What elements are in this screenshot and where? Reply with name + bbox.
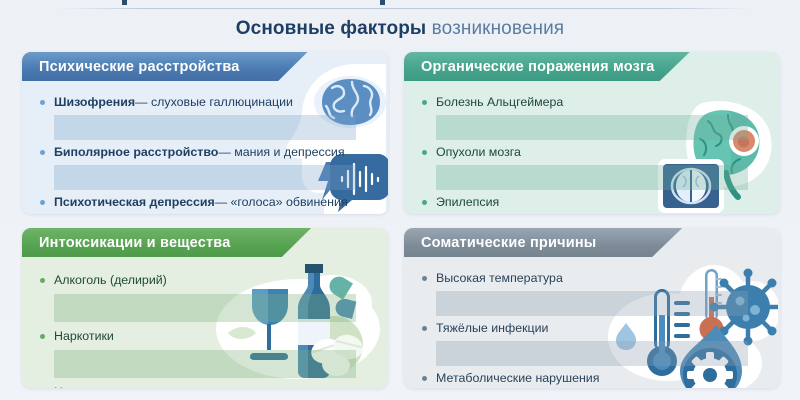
item-divider [436,115,748,140]
item-label-strong: Психотическая депрессия [54,195,215,210]
panel-item-list: Алкоголь (делирий) Наркотики Некоторые л… [39,266,374,388]
page-title-light: возникновения [426,18,564,39]
panel-item-list: Болезнь Альцгеймера Опухоли мозга Эпилеп… [421,90,766,214]
list-item[interactable]: Высокая температура [421,266,766,291]
panel-title: Органические поражения мозга [421,59,655,75]
item-label-rest: Эпилепсия [436,195,499,210]
panel-body-intoxications-substances: Алкоголь (делирий) Наркотики Некоторые л… [22,257,388,388]
item-label-rest: — «голоса» обвинения [215,195,348,210]
item-label-rest: — слуховые галлюцинации [135,95,293,110]
item-label-rest: Алкоголь (делирий) [54,273,167,288]
list-item[interactable]: Психотическая депрессия — «голоса» обвин… [39,190,374,214]
panel-title: Соматические причины [421,235,596,251]
panel-title: Интоксикации и вещества [39,235,230,251]
item-divider [436,165,748,190]
item-label-rest: Метаболические нарушения [436,371,599,386]
list-item[interactable]: Алкоголь (делирий) [39,266,374,294]
panel-body-organic-brain-lesions: Болезнь Альцгеймера Опухоли мозга Эпилеп… [404,81,780,214]
bullet-icon [40,150,45,155]
item-divider [54,115,356,140]
panel-somatic-causes[interactable]: Соматические причины [404,228,780,388]
page-title: Основные факторы возникновения [0,18,800,40]
bullet-icon [422,200,427,205]
list-item[interactable]: Эпилепсия [421,190,766,214]
list-item[interactable]: Тяжёлые инфекции [421,316,766,341]
item-label-rest: Высокая температура [436,271,563,286]
cutoff-text-fragment [122,0,127,5]
list-item[interactable]: Болезнь Альцгеймера [421,90,766,115]
panel-organic-brain-lesions[interactable]: Органические поражения мозга [404,52,780,214]
item-divider [436,341,748,366]
panel-body-somatic-causes: Высокая температура Тяжёлые инфекции Мет… [404,257,780,388]
bullet-icon [40,100,45,105]
item-label-rest: Тяжёлые инфекции [436,321,548,336]
item-label-strong: Шизофрения [54,95,135,110]
panel-title: Психические расстройства [39,59,240,75]
page-title-strong: Основные факторы [236,18,426,39]
panel-item-list: Высокая температура Тяжёлые инфекции Мет… [421,266,766,388]
bullet-icon [422,376,427,381]
panel-intoxications-substances[interactable]: Интоксикации и вещества [22,228,388,388]
horizontal-rule [60,8,750,9]
panel-body-mental-disorders: Шизофрения — слуховые галлюцинации Бипол… [22,81,388,214]
bullet-icon [40,334,45,339]
bullet-icon [422,326,427,331]
bullet-icon [422,100,427,105]
bullet-icon [422,276,427,281]
top-cutoff-strip [0,0,800,14]
item-divider [54,165,356,190]
list-item[interactable]: Шизофрения — слуховые галлюцинации [39,90,374,115]
panel-header-intoxications-substances: Интоксикации и вещества [22,228,388,257]
bullet-icon [40,278,45,283]
cutoff-text-fragment [380,0,385,5]
list-item[interactable]: Опухоли мозга [421,140,766,165]
bullet-icon [422,150,427,155]
panel-header-organic-brain-lesions: Органические поражения мозга [404,52,780,81]
list-item[interactable]: Биполярное расстройство — мания и депрес… [39,140,374,165]
item-label-strong: Биполярное расстройство [54,145,218,160]
item-label-rest: Некоторые лекарства [54,385,179,389]
item-label-rest: Опухоли мозга [436,145,521,160]
list-item[interactable]: Метаболические нарушения [421,366,766,388]
factors-grid: Психические расстройства [22,52,780,392]
item-label-rest: Наркотики [54,329,114,344]
list-item[interactable]: Наркотики [39,322,374,350]
list-item[interactable]: Некоторые лекарства [39,378,374,388]
panel-header-mental-disorders: Психические расстройства [22,52,388,81]
panel-mental-disorders[interactable]: Психические расстройства [22,52,388,214]
item-divider [436,291,748,316]
item-divider [54,294,356,322]
bullet-icon [40,200,45,205]
item-label-rest: — мания и депрессия [218,145,344,160]
panel-header-somatic-causes: Соматические причины [404,228,780,257]
item-label-rest: Болезнь Альцгеймера [436,95,563,110]
item-divider [54,350,356,378]
panel-item-list: Шизофрения — слуховые галлюцинации Бипол… [39,90,374,214]
